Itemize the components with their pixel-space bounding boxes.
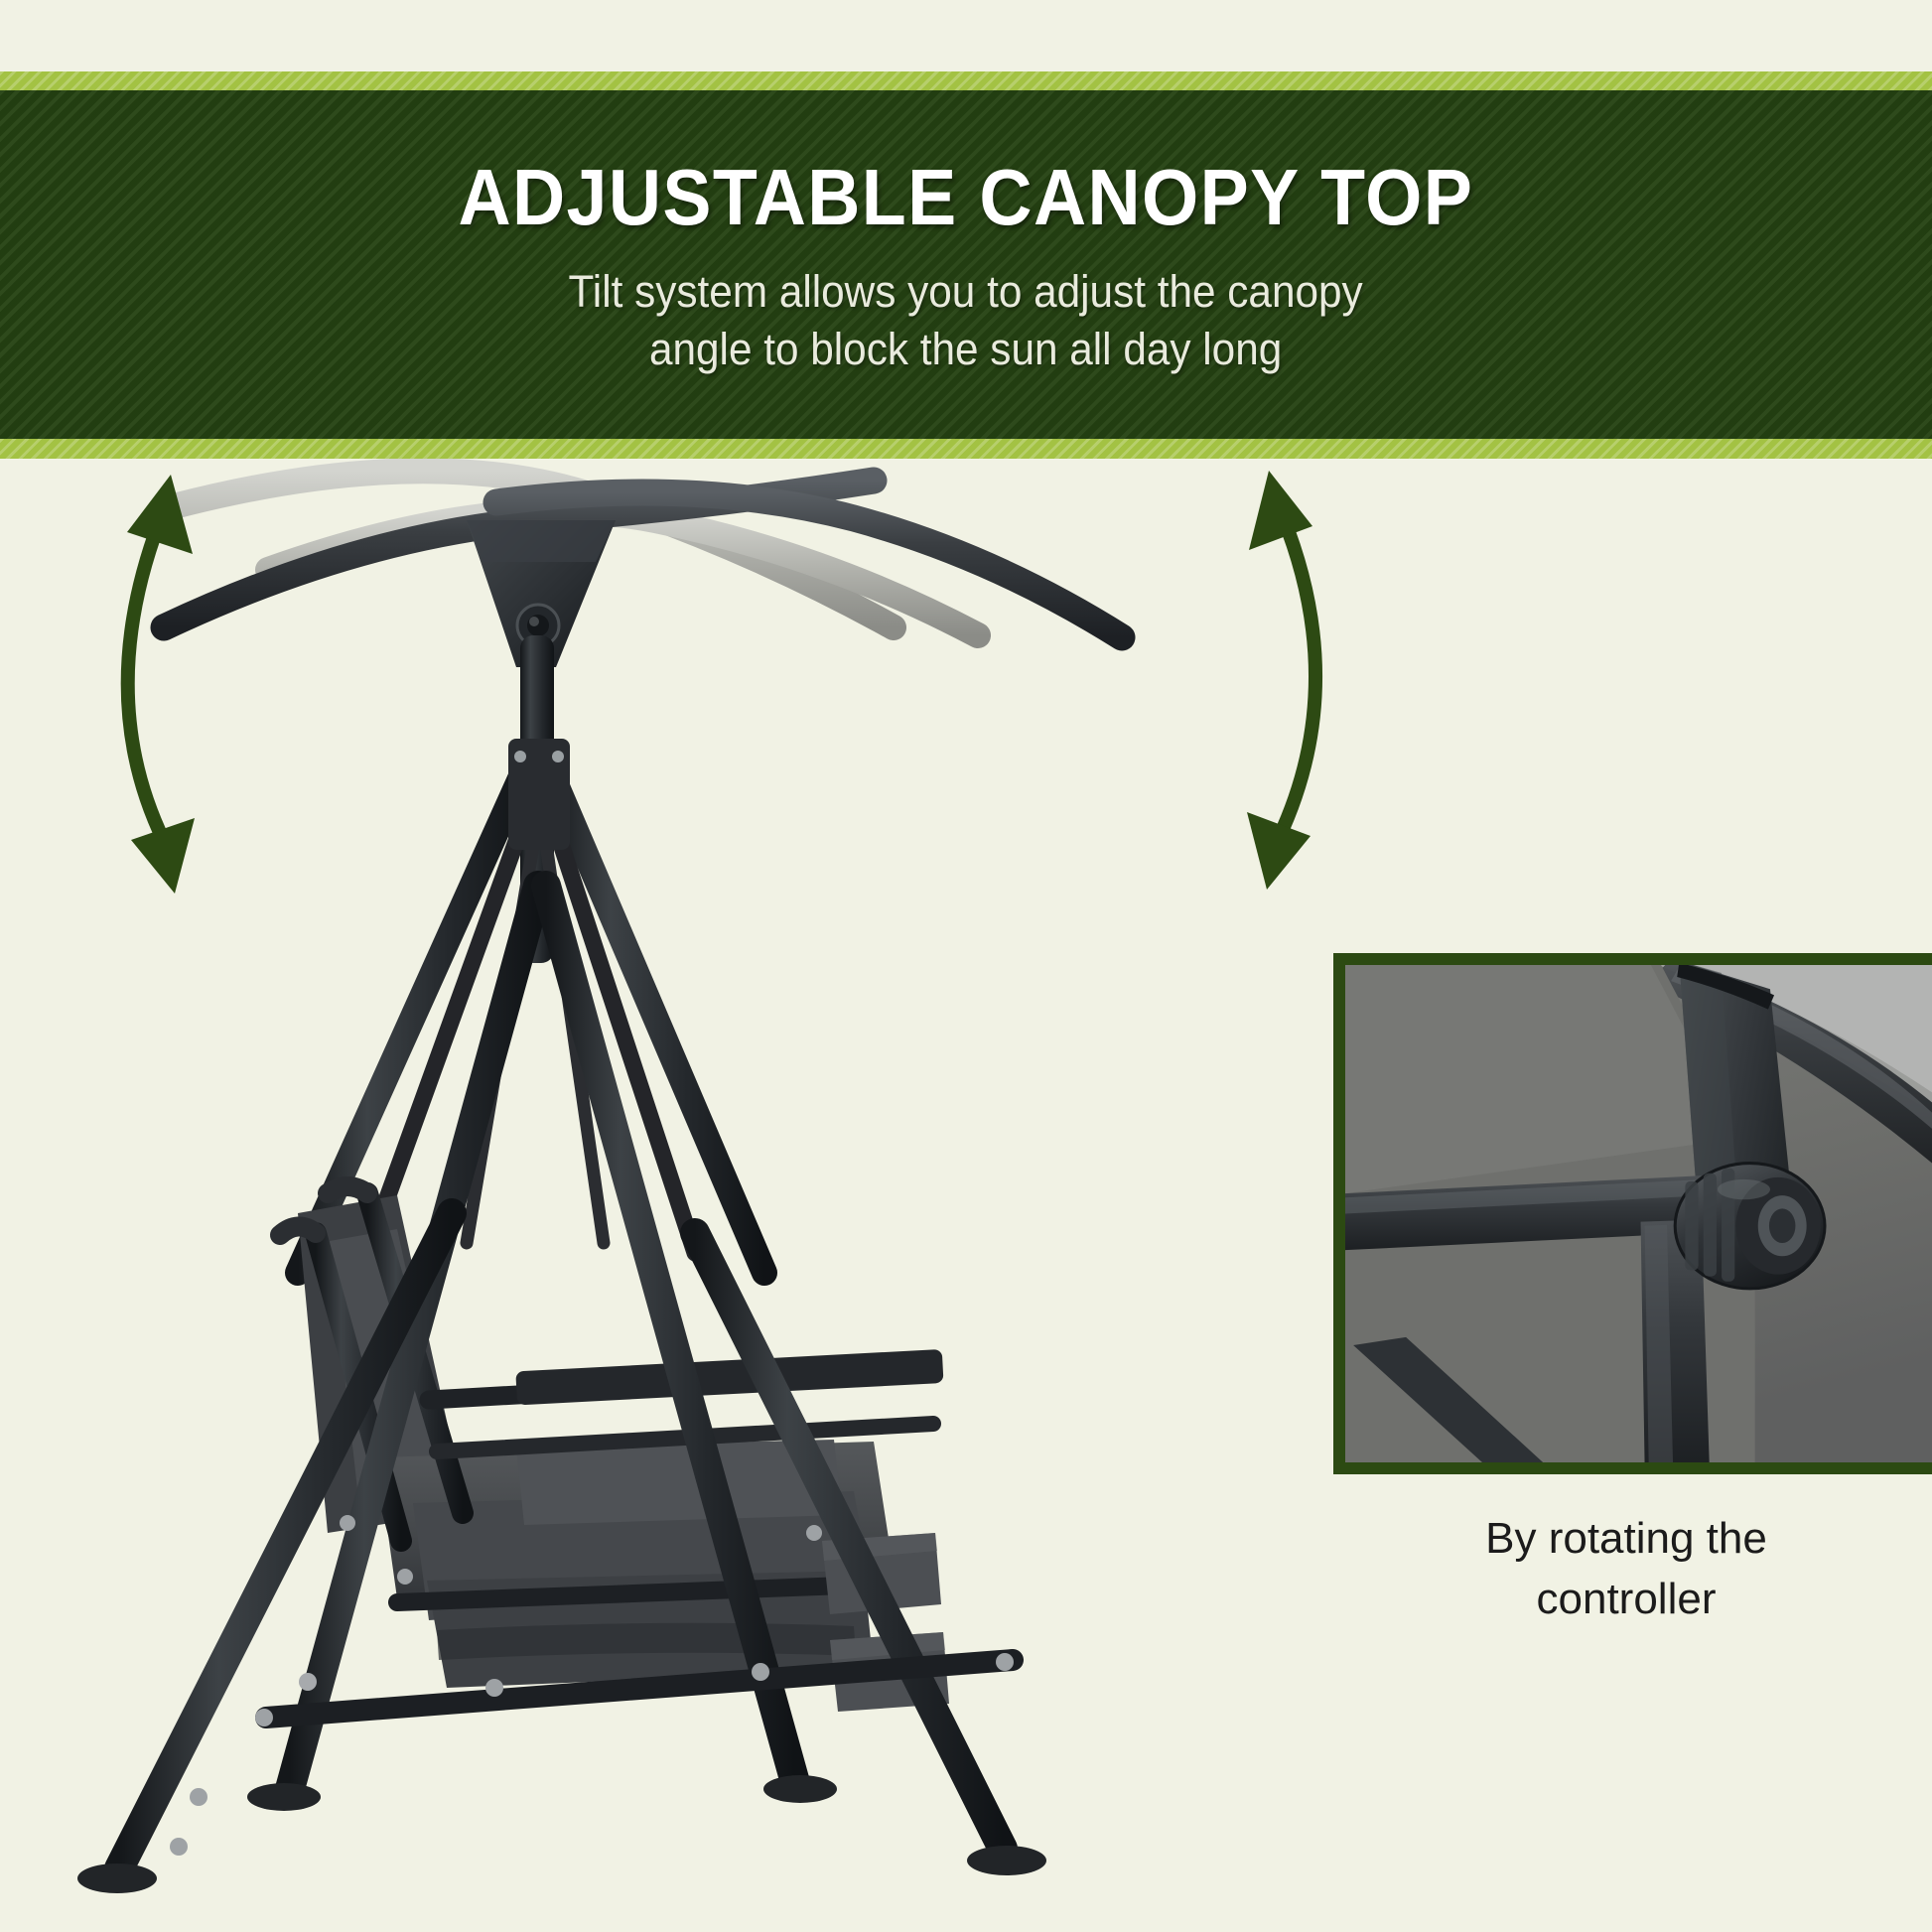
- controller-knob-icon[interactable]: [1675, 1164, 1825, 1289]
- controller-closeup-photo: [1345, 965, 1932, 1462]
- caption-line-2: controller: [1537, 1575, 1717, 1623]
- banner-body: ADJUSTABLE CANOPY TOP Tilt system allows…: [0, 90, 1932, 440]
- product-illustration: [0, 459, 1291, 1932]
- detail-inset-panel: [1333, 953, 1932, 1474]
- caption-line-1: By rotating the: [1485, 1514, 1767, 1563]
- header-banner: ADJUSTABLE CANOPY TOP Tilt system allows…: [0, 71, 1932, 459]
- swing-chair-graphic: [0, 459, 1291, 1932]
- infographic-page: ADJUSTABLE CANOPY TOP Tilt system allows…: [0, 0, 1932, 1932]
- leg-feet: [77, 1775, 1046, 1893]
- page-title: ADJUSTABLE CANOPY TOP: [459, 158, 1474, 237]
- subtitle-line-2: angle to block the sun all day long: [649, 324, 1282, 374]
- banner-top-stripe: [0, 71, 1932, 91]
- banner-bottom-stripe: [0, 439, 1932, 459]
- subtitle-line-1: Tilt system allows you to adjust the can…: [569, 266, 1363, 317]
- inset-caption: By rotating the controller: [1333, 1509, 1919, 1629]
- page-subtitle: Tilt system allows you to adjust the can…: [569, 263, 1363, 377]
